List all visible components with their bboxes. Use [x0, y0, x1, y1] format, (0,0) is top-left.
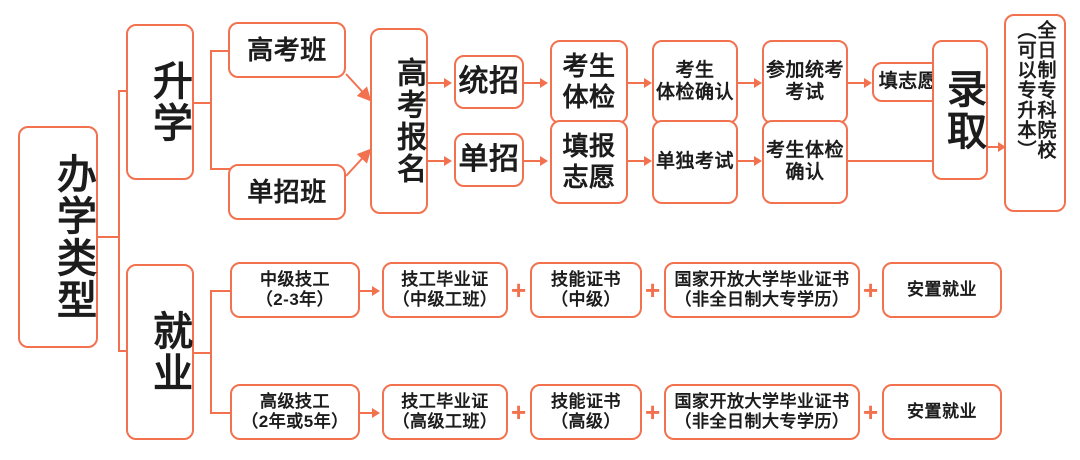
plus-icon-emp-row1-a: +	[511, 277, 526, 303]
node-gaokao-registration-label: 高考报名	[372, 57, 426, 185]
arrowhead-registration-to-single	[444, 156, 452, 166]
plus-icon-emp-row2-c: +	[863, 399, 878, 425]
node-single-admission[interactable]: 单招	[454, 133, 524, 187]
node-danzhao-class-label: 单招班	[230, 177, 344, 208]
node-emp-row2-diploma-label: 技工毕业证 （高级工班）	[384, 392, 506, 432]
node-branch-employment[interactable]: 就业	[126, 264, 194, 440]
node-unified-step-physical-exam-label: 考生体检	[552, 51, 626, 112]
arrowhead-step2-to-step3	[754, 78, 762, 88]
arrowhead-step1-to-step2	[644, 78, 652, 88]
node-single-step-separate-exam-label: 单独考试	[654, 151, 736, 173]
flowchart-canvas: 办学类型 升学 高考班 单招班 高考报名	[0, 0, 1080, 460]
node-gaokao-registration[interactable]: 高考报名	[370, 28, 428, 214]
node-emp-row2-level-label: 高级技工 （2年或5年）	[232, 392, 358, 432]
node-root-school-type[interactable]: 办学类型	[18, 126, 98, 348]
connector-upgrade-to-gaokao-class	[210, 50, 230, 52]
connector-upgrade-spine	[210, 50, 212, 170]
connector-employment-to-row1	[210, 290, 232, 292]
plus-icon-emp-row1-c: +	[863, 277, 878, 303]
node-unified-admission[interactable]: 统招	[454, 55, 524, 109]
node-single-step-fill-choice-label: 填报 志愿	[552, 131, 626, 192]
arrowhead-unified-to-step1	[540, 78, 548, 88]
node-emp-row1-skill-cert-label: 技能证书 （中级）	[532, 270, 640, 310]
arrowhead-emp-row2-level-to-diploma	[372, 408, 380, 418]
node-emp-row2-diploma[interactable]: 技工毕业证 （高级工班）	[382, 384, 508, 440]
node-branch-upgrade[interactable]: 升学	[126, 24, 194, 180]
arrowhead-step3-to-step4	[864, 78, 872, 88]
node-gaokao-class-label: 高考班	[230, 35, 344, 66]
node-unified-step-exam-confirm[interactable]: 考生 体检确认	[652, 40, 738, 124]
node-final-college[interactable]: 全日制专科院校 （可以专升本）	[1004, 14, 1066, 212]
node-unified-admission-label: 统招	[456, 64, 522, 99]
node-single-step-separate-exam[interactable]: 单独考试	[652, 120, 738, 204]
node-emp-row2-level[interactable]: 高级技工 （2年或5年）	[230, 384, 360, 440]
connector-employment-to-row2	[210, 412, 232, 414]
node-admission-result[interactable]: 录取	[932, 40, 988, 180]
node-emp-row2-skill-cert-label: 技能证书 （高级）	[532, 392, 640, 432]
node-emp-row1-diploma-label: 技工毕业证 （中级工班）	[384, 270, 506, 310]
node-emp-row1-open-university[interactable]: 国家开放大学毕业证书 （非全日制大专学历）	[664, 262, 860, 318]
node-unified-step-take-exam[interactable]: 参加统考 考试	[762, 40, 848, 124]
node-single-step-exam-confirm[interactable]: 考生体检 确认	[762, 120, 848, 204]
arrowhead-single-to-step1	[540, 156, 548, 166]
arrowhead-registration-to-unified	[444, 78, 452, 88]
node-root-school-type-label: 办学类型	[20, 153, 96, 321]
node-final-college-note: （可以专升本）	[1016, 20, 1035, 160]
node-emp-row1-level-label: 中级技工 （2-3年）	[232, 270, 358, 310]
node-single-step-fill-choice[interactable]: 填报 志愿	[550, 120, 628, 204]
node-emp-row1-placement-label: 安置就业	[884, 280, 1000, 300]
node-emp-row1-placement[interactable]: 安置就业	[882, 262, 1002, 318]
node-branch-employment-label: 就业	[128, 310, 192, 394]
node-final-college-label: 全日制专科院校	[1036, 20, 1055, 160]
node-emp-row2-skill-cert[interactable]: 技能证书 （高级）	[530, 384, 642, 440]
node-admission-result-label: 录取	[934, 68, 986, 152]
arrowhead-single-step2-to-step3	[754, 156, 762, 166]
node-emp-row2-placement[interactable]: 安置就业	[882, 384, 1002, 440]
node-emp-row1-level[interactable]: 中级技工 （2-3年）	[230, 262, 360, 318]
arrowhead-single-step1-to-step2	[644, 156, 652, 166]
plus-icon-emp-row1-b: +	[645, 277, 660, 303]
node-single-step-exam-confirm-label: 考生体检 确认	[764, 140, 846, 185]
connector-root-spine	[118, 90, 120, 352]
plus-icon-emp-row2-b: +	[645, 399, 660, 425]
node-emp-row1-skill-cert[interactable]: 技能证书 （中级）	[530, 262, 642, 318]
node-unified-step-take-exam-label: 参加统考 考试	[764, 60, 846, 105]
connector-root-stub	[98, 236, 120, 238]
node-emp-row2-open-university[interactable]: 国家开放大学毕业证书 （非全日制大专学历）	[664, 384, 860, 440]
plus-icon-emp-row2-a: +	[511, 399, 526, 425]
node-danzhao-class[interactable]: 单招班	[228, 164, 346, 220]
node-unified-step-exam-confirm-label: 考生 体检确认	[654, 60, 736, 105]
node-emp-row1-open-university-label: 国家开放大学毕业证书 （非全日制大专学历）	[666, 270, 858, 310]
node-emp-row1-diploma[interactable]: 技工毕业证 （中级工班）	[382, 262, 508, 318]
node-gaokao-class[interactable]: 高考班	[228, 22, 346, 78]
connector-upgrade-to-danzhao-class	[210, 168, 230, 170]
node-single-admission-label: 单招	[456, 142, 522, 177]
node-branch-upgrade-label: 升学	[128, 60, 192, 144]
connector-employment-spine	[210, 290, 212, 414]
arrowhead-emp-row1-level-to-diploma	[372, 286, 380, 296]
node-emp-row2-open-university-label: 国家开放大学毕业证书 （非全日制大专学历）	[666, 392, 858, 432]
node-unified-step-physical-exam[interactable]: 考生体检	[550, 40, 628, 124]
node-emp-row2-placement-label: 安置就业	[884, 402, 1000, 422]
